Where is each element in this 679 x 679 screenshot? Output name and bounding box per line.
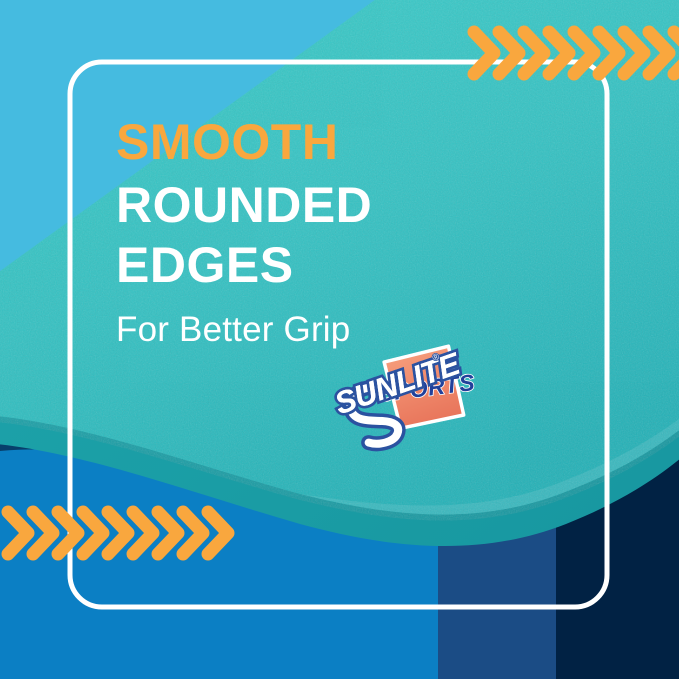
headline-line-3: EDGES [116,241,536,290]
headline-line-2: ROUNDED [116,181,536,230]
marketing-copy: SMOOTH ROUNDED EDGES For Better Grip [116,118,536,348]
product-feature-image: SMOOTH ROUNDED EDGES For Better Grip SPO… [0,0,679,679]
chevron-row-top [474,32,679,74]
headline-line-1: SMOOTH [116,118,536,167]
chevron-row-bottom [8,512,228,554]
sunlite-sports-logo: SPORTS SUNLITE SUNLITE ® [334,333,476,455]
